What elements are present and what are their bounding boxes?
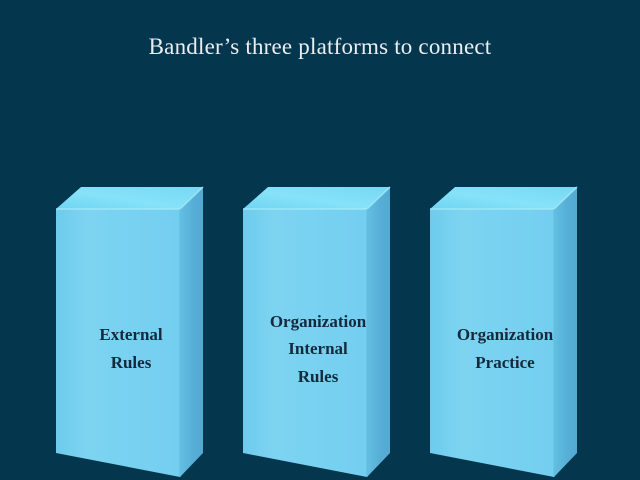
slide-canvas: Bandler’s three platforms to connect xyxy=(0,0,640,480)
pillar-organization-internal-rules[interactable]: Organization Internal Rules xyxy=(242,186,394,478)
page-title: Bandler’s three platforms to connect xyxy=(0,34,640,60)
pillar-3d-shape xyxy=(55,186,207,478)
pillar-external-rules[interactable]: External Rules xyxy=(55,186,207,478)
pillar-3d-shape xyxy=(242,186,394,478)
pillar-3d-shape xyxy=(429,186,581,478)
pillar-organization-practice[interactable]: Organization Practice xyxy=(429,186,581,478)
